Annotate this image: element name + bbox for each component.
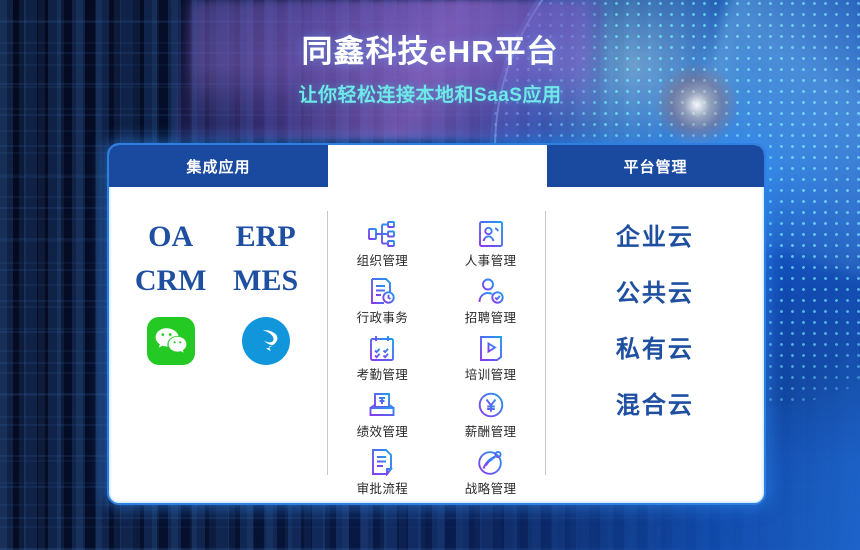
- strategy-icon: [477, 448, 505, 476]
- cloud-item-public[interactable]: 公共云: [546, 273, 764, 308]
- module-label: 薪酬管理: [443, 421, 539, 440]
- app-logo-row: [123, 317, 313, 365]
- app-word-grid: OA ERP CRM MES: [123, 217, 313, 301]
- cloud-list: 企业云 公共云 私有云 混合云: [546, 187, 764, 420]
- module-label: 组织管理: [334, 250, 430, 269]
- app-word-erp[interactable]: ERP: [218, 217, 313, 257]
- salary-icon: [477, 391, 505, 419]
- section-header-integrated-apps: 集成应用: [109, 145, 328, 187]
- module-label: 招聘管理: [443, 307, 539, 326]
- module-label: 考勤管理: [334, 364, 430, 383]
- card-header-bar: 集成应用 平台管理: [109, 145, 764, 187]
- main-card: 集成应用 平台管理 OA ERP CRM MES: [107, 143, 766, 505]
- recruitment-icon: [477, 277, 505, 305]
- module-item-attendance[interactable]: 考勤管理: [334, 331, 430, 383]
- page-title: 同鑫科技eHR平台: [0, 26, 860, 71]
- module-icon-grid: 组织管理 人事管理: [328, 211, 544, 497]
- app-word-crm[interactable]: CRM: [123, 261, 218, 301]
- app-word-oa[interactable]: OA: [123, 217, 218, 257]
- page-subtitle: 让你轻松连接本地和SaaS应用: [0, 80, 860, 107]
- personnel-card-icon: [477, 220, 505, 248]
- module-item-training[interactable]: 培训管理: [443, 331, 539, 383]
- section-header-platform-management: 平台管理: [547, 145, 764, 187]
- dingtalk-logo[interactable]: [242, 317, 290, 365]
- cloud-item-hybrid[interactable]: 混合云: [546, 385, 764, 420]
- app-word-mes[interactable]: MES: [218, 261, 313, 301]
- module-label: 行政事务: [334, 307, 430, 326]
- attendance-icon: [368, 334, 396, 362]
- module-item-personnel[interactable]: 人事管理: [443, 217, 539, 269]
- poster-canvas: 同鑫科技eHR平台 让你轻松连接本地和SaaS应用 集成应用 平台管理 OA E…: [0, 0, 860, 550]
- platform-management-panel: 企业云 公共云 私有云 混合云: [546, 187, 764, 505]
- module-label: 审批流程: [334, 478, 430, 497]
- module-item-recruitment[interactable]: 招聘管理: [443, 274, 539, 326]
- module-label: 战略管理: [443, 478, 539, 497]
- poster-header: 同鑫科技eHR平台 让你轻松连接本地和SaaS应用: [0, 26, 860, 107]
- module-label: 绩效管理: [334, 421, 430, 440]
- section-header-modules-notch: [328, 145, 547, 187]
- integrated-apps-panel: OA ERP CRM MES: [109, 187, 327, 505]
- module-item-org[interactable]: 组织管理: [334, 217, 430, 269]
- module-item-strategy[interactable]: 战略管理: [443, 445, 539, 497]
- module-item-approval[interactable]: 审批流程: [334, 445, 430, 497]
- cloud-item-private[interactable]: 私有云: [546, 329, 764, 364]
- module-item-performance[interactable]: 绩效管理: [334, 388, 430, 440]
- hr-modules-panel: 组织管理 人事管理: [327, 211, 545, 475]
- module-label: 培训管理: [443, 364, 539, 383]
- cloud-item-enterprise[interactable]: 企业云: [546, 217, 764, 252]
- training-icon: [477, 334, 505, 362]
- approval-flow-icon: [368, 448, 396, 476]
- performance-icon: [368, 391, 396, 419]
- module-item-admin[interactable]: 行政事务: [334, 274, 430, 326]
- org-chart-icon: [367, 220, 397, 248]
- card-body: OA ERP CRM MES: [109, 187, 764, 505]
- admin-affairs-icon: [368, 277, 396, 305]
- wechat-logo[interactable]: [147, 317, 195, 365]
- module-item-salary[interactable]: 薪酬管理: [443, 388, 539, 440]
- module-label: 人事管理: [443, 250, 539, 269]
